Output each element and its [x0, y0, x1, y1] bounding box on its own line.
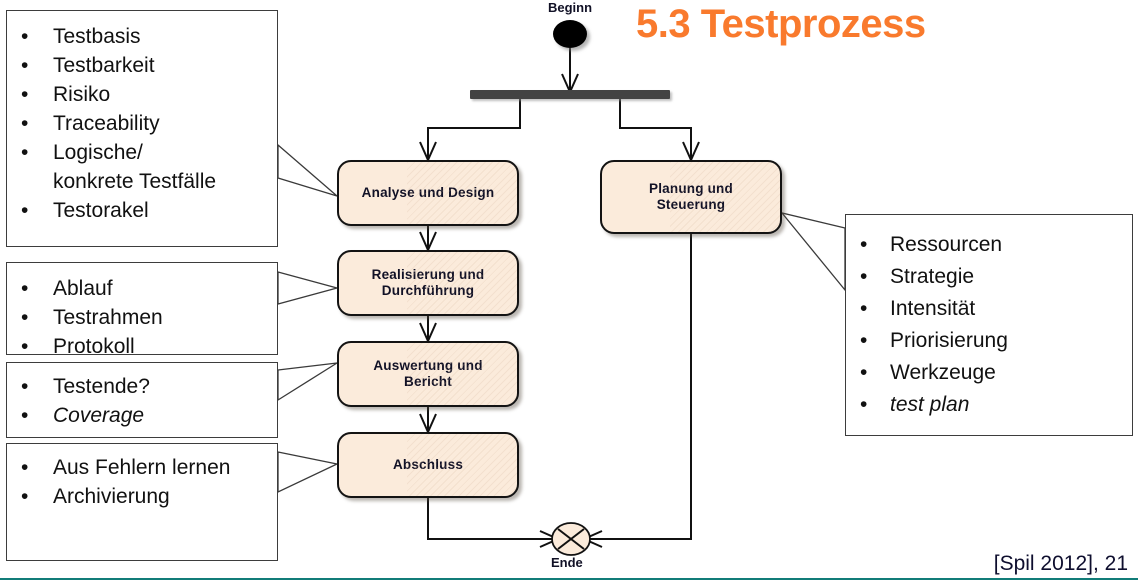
list-item-label: Aus Fehlern lernen [53, 456, 230, 479]
start-node-label: Beginn [548, 0, 592, 15]
list-item-label: Archivierung [53, 485, 170, 508]
edge-analyse-to-realisierung [420, 226, 436, 250]
list-item-label: Intensität [890, 297, 975, 320]
edge-planung-to-ende [584, 234, 691, 547]
list-item: •Ressourcen [846, 229, 1132, 261]
list-item-label: Werkzeuge [890, 361, 996, 384]
callout-tail-realisierung [278, 272, 337, 304]
list-item-label: Testbarkeit [53, 54, 155, 77]
end-node-label: Ende [551, 555, 583, 570]
list-item-label: Traceability [53, 112, 160, 135]
bullet-glyph: • [860, 261, 867, 293]
activity-node-auswertung-und-bericht[interactable]: Auswertung und Bericht [337, 341, 519, 407]
callout-tail-planung [782, 213, 845, 290]
list-item: •Ablauf [7, 274, 277, 303]
flow-final-node [552, 523, 590, 555]
bullet-glyph: • [860, 325, 867, 357]
activity-node-planung-und-steuerung[interactable]: Planung und Steuerung [600, 160, 782, 234]
list-item: •Testorakel [7, 196, 277, 225]
callout-auswertung-und-bericht: •Testende? •Coverage [6, 362, 278, 438]
bullet-glyph: • [21, 274, 28, 303]
list-item: •Risiko [7, 80, 277, 109]
callout-abschluss: •Aus Fehlern lernen •Archivierung [6, 443, 278, 561]
bullet-glyph: • [21, 138, 28, 167]
list-item: •Testende? [7, 372, 277, 401]
list-item: •Coverage [7, 401, 277, 430]
callout-list-abschluss: •Aus Fehlern lernen •Archivierung [7, 453, 277, 511]
list-item-label: Risiko [53, 83, 110, 106]
list-item: •Intensität [846, 293, 1132, 325]
list-item: •Werkzeuge [846, 357, 1132, 389]
activity-label-abschluss: Abschluss [393, 457, 463, 472]
bullet-glyph: • [21, 372, 28, 401]
list-item-label: konkrete Testfälle [53, 170, 216, 193]
callout-list-auswertung: •Testende? •Coverage [7, 372, 277, 430]
activity-label-realisierung-line1: Realisierung und [372, 267, 485, 282]
activity-node-realisierung-und-durchfuehrung[interactable]: Realisierung und Durchführung [337, 250, 519, 316]
bullet-glyph: • [860, 229, 867, 261]
list-item: •Testbarkeit [7, 51, 277, 80]
bullet-glyph: • [21, 482, 28, 511]
callout-list-analyse: •Testbasis •Testbarkeit •Risiko •Traceab… [7, 22, 277, 225]
activity-node-abschluss[interactable]: Abschluss [337, 432, 519, 498]
activity-label-auswertung-line2: Bericht [404, 374, 452, 389]
bullet-glyph: • [21, 80, 28, 109]
callout-realisierung-und-durchfuehrung: •Ablauf •Testrahmen •Protokoll [6, 262, 278, 355]
list-item-label: Protokoll [53, 335, 135, 358]
list-item: •Priorisierung [846, 325, 1132, 357]
bullet-glyph: • [860, 293, 867, 325]
edge-fork-to-analyse [420, 99, 520, 160]
bullet-glyph: • [860, 389, 867, 421]
bullet-glyph: • [21, 332, 28, 361]
bullet-glyph: • [860, 357, 867, 389]
list-item: •Strategie [846, 261, 1132, 293]
fork-bar [470, 90, 670, 99]
list-item: •Traceability [7, 109, 277, 138]
list-item-label: Testende? [53, 375, 150, 398]
activity-label-analyse: Analyse und Design [362, 185, 495, 200]
list-item-label: Ressourcen [890, 233, 1002, 256]
bullet-glyph: • [21, 109, 28, 138]
edge-fork-to-planung [620, 99, 699, 160]
list-item-label: Ablauf [53, 277, 113, 300]
bullet-glyph: • [21, 303, 28, 332]
start-node-icon [553, 20, 587, 48]
callout-analyse-und-design: •Testbasis •Testbarkeit •Risiko •Traceab… [6, 10, 278, 247]
activity-label-planung-line1: Planung und [649, 181, 733, 196]
callout-tail-analyse [278, 145, 337, 196]
list-item-label: Testrahmen [53, 306, 163, 329]
bullet-glyph: • [21, 51, 28, 80]
bullet-glyph: • [21, 196, 28, 225]
list-item-label: Coverage [53, 404, 144, 427]
list-item-label: test plan [890, 393, 969, 416]
callout-list-planung: •Ressourcen •Strategie •Intensität •Prio… [846, 229, 1132, 421]
list-item: •Logische/ [7, 138, 277, 167]
edge-realisierung-to-auswertung [420, 316, 436, 341]
bullet-glyph: • [21, 22, 28, 51]
footer-divider [0, 578, 1138, 580]
activity-label-planung-line2: Steuerung [657, 197, 726, 212]
callout-tail-abschluss [278, 452, 337, 492]
list-item-label: Testorakel [53, 199, 149, 222]
list-item: •Protokoll [7, 332, 277, 361]
edge-auswertung-to-abschluss [420, 407, 436, 432]
bullet-glyph: • [21, 401, 28, 430]
bullet-glyph: • [21, 453, 28, 482]
activity-label-realisierung-line2: Durchführung [382, 283, 474, 298]
list-item-label: Testbasis [53, 25, 141, 48]
list-item-label: Strategie [890, 265, 974, 288]
activity-node-analyse-und-design[interactable]: Analyse und Design [337, 160, 519, 226]
edge-start-to-fork [562, 48, 578, 92]
list-item: •test plan [846, 389, 1132, 421]
callout-tail-auswertung [278, 363, 337, 400]
edge-abschluss-to-ende [428, 498, 558, 547]
list-item: •Archivierung [7, 482, 277, 511]
list-item: •Testrahmen [7, 303, 277, 332]
list-item-label: Priorisierung [890, 329, 1008, 352]
page-title: 5.3 Testprozess [636, 2, 926, 47]
list-item-label: Logische/ [53, 141, 143, 164]
list-item: •Testbasis [7, 22, 277, 51]
callout-list-realisierung: •Ablauf •Testrahmen •Protokoll [7, 274, 277, 361]
footer-citation: [Spil 2012], 21 [994, 552, 1128, 576]
callout-planung-und-steuerung: •Ressourcen •Strategie •Intensität •Prio… [845, 214, 1133, 436]
activity-label-auswertung-line1: Auswertung und [373, 358, 482, 373]
list-item: •Aus Fehlern lernen [7, 453, 277, 482]
list-item-continuation: konkrete Testfälle [7, 167, 277, 196]
